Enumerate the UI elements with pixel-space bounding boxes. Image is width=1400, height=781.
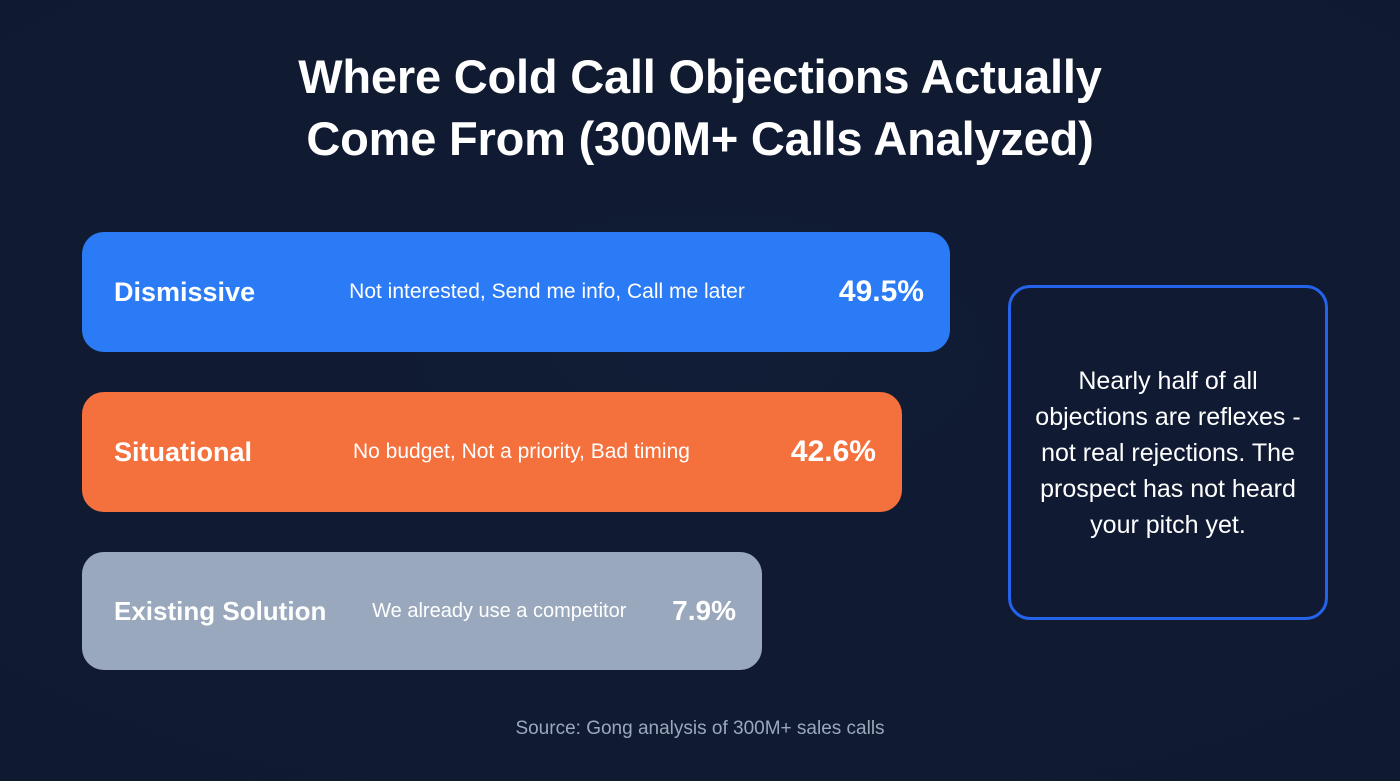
objection-bar-examples: Not interested, Send me info, Call me la… — [255, 277, 839, 307]
objection-bar-situational: Situational No budget, Not a priority, B… — [82, 392, 902, 512]
page-title: Where Cold Call Objections Actually Come… — [0, 46, 1400, 170]
insight-callout-box: Nearly half of all objections are reflex… — [1008, 285, 1328, 620]
objection-bar-label: Dismissive — [114, 275, 255, 309]
objection-bar-existing-solution: Existing Solution We already use a compe… — [82, 552, 762, 670]
infographic-canvas: Where Cold Call Objections Actually Come… — [0, 0, 1400, 781]
objection-bar-percentage: 49.5% — [839, 274, 924, 310]
insight-callout-text: Nearly half of all objections are reflex… — [1033, 363, 1303, 543]
objection-bar-label: Situational — [114, 435, 252, 469]
objection-bar-dismissive: Dismissive Not interested, Send me info,… — [82, 232, 950, 352]
objection-bar-label: Existing Solution — [114, 595, 326, 627]
objection-bar-examples: No budget, Not a priority, Bad timing — [252, 437, 791, 467]
objection-bar-examples: We already use a competitor — [326, 597, 672, 625]
page-title-line-2: Come From (300M+ Calls Analyzed) — [120, 108, 1280, 170]
objection-bar-percentage: 7.9% — [672, 593, 736, 629]
source-footnote: Source: Gong analysis of 300M+ sales cal… — [0, 716, 1400, 742]
objection-bar-percentage: 42.6% — [791, 434, 876, 470]
page-title-line-1: Where Cold Call Objections Actually — [120, 46, 1280, 108]
